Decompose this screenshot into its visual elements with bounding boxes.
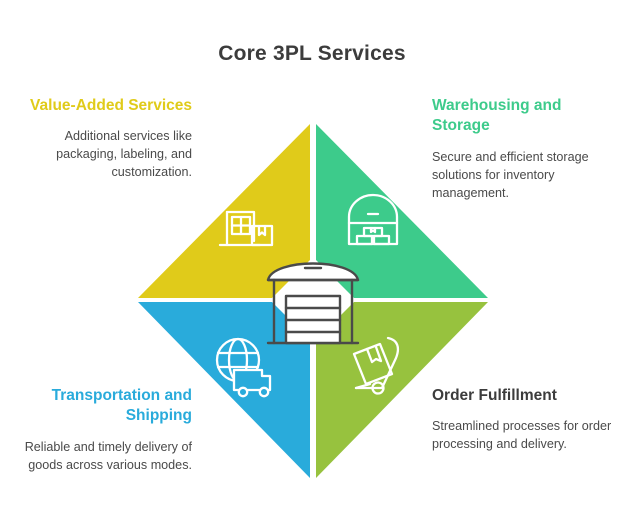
quadrant-heading-value-added: Value-Added Services	[20, 96, 192, 116]
diamond-chart	[130, 116, 496, 488]
diagram-canvas: Core 3PL Services Value-Added Services A…	[0, 0, 624, 516]
page-title: Core 3PL Services	[0, 42, 624, 66]
segment-transportation[interactable]	[138, 302, 310, 478]
segment-fulfillment[interactable]	[316, 302, 488, 478]
